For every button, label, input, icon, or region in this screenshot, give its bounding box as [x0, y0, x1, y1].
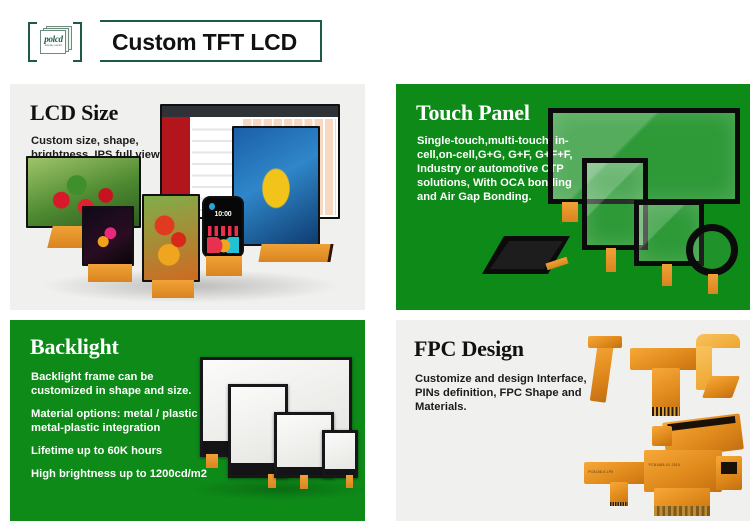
fpc-flex-2 [630, 348, 702, 370]
lcd-food-panel [142, 194, 200, 282]
page-title: Custom TFT LCD [112, 29, 297, 56]
fpc-flex-label-2: PCB1688-V2 2015 [649, 463, 680, 467]
lcd-module-group-photo: 10:00 [10, 84, 365, 310]
logo-tagline: display expert [41, 44, 66, 47]
logo-stacked-sheets-icon: polcd display expert [40, 26, 74, 56]
fpc-flex-7 [716, 456, 742, 490]
logo-bracket-right [73, 22, 82, 62]
backlight-unit-mini [322, 430, 358, 478]
lcd-flower-panel [82, 206, 134, 266]
fpc-flex-6: PCB1688-V2 2015 [644, 450, 722, 492]
logo-wordmark: polcd [41, 34, 66, 44]
poster-canvas: polcd display expert Custom TFT LCD LCD … [0, 0, 750, 521]
fpc-flex-1 [590, 339, 614, 403]
logo-bracket-left [28, 22, 37, 62]
header: polcd display expert Custom TFT LCD [0, 0, 750, 80]
panel-lcd-size: LCD Size Custom size, shape, brightness,… [10, 84, 365, 310]
touch-glass-round [686, 224, 738, 276]
capacitive-touch-panel-group-photo [396, 84, 750, 310]
brand-logo: polcd display expert [28, 22, 82, 62]
panel-touch-panel: Touch Panel Single-touch,multi-touch, in… [396, 84, 750, 310]
panel-backlight: Backlight Backlight frame can be customi… [10, 320, 365, 521]
fpc-flex-label-1: PCB168-5-LP5 [588, 470, 613, 474]
panel-fpc-design: FPC Design Customize and design Interfac… [396, 320, 750, 521]
lcd-bee-panel [232, 126, 320, 246]
touch-sensor-flat [482, 234, 572, 282]
backlight-unit-group-photo [10, 320, 365, 521]
smartwatch-time: 10:00 [204, 211, 242, 218]
fpc-flex-cable-group-photo: PCB168-5-LP5 PCB1688-V2 2015 [396, 320, 750, 521]
lcd-smartwatch-panel: 10:00 [202, 196, 244, 258]
title-frame: Custom TFT LCD [100, 20, 322, 62]
